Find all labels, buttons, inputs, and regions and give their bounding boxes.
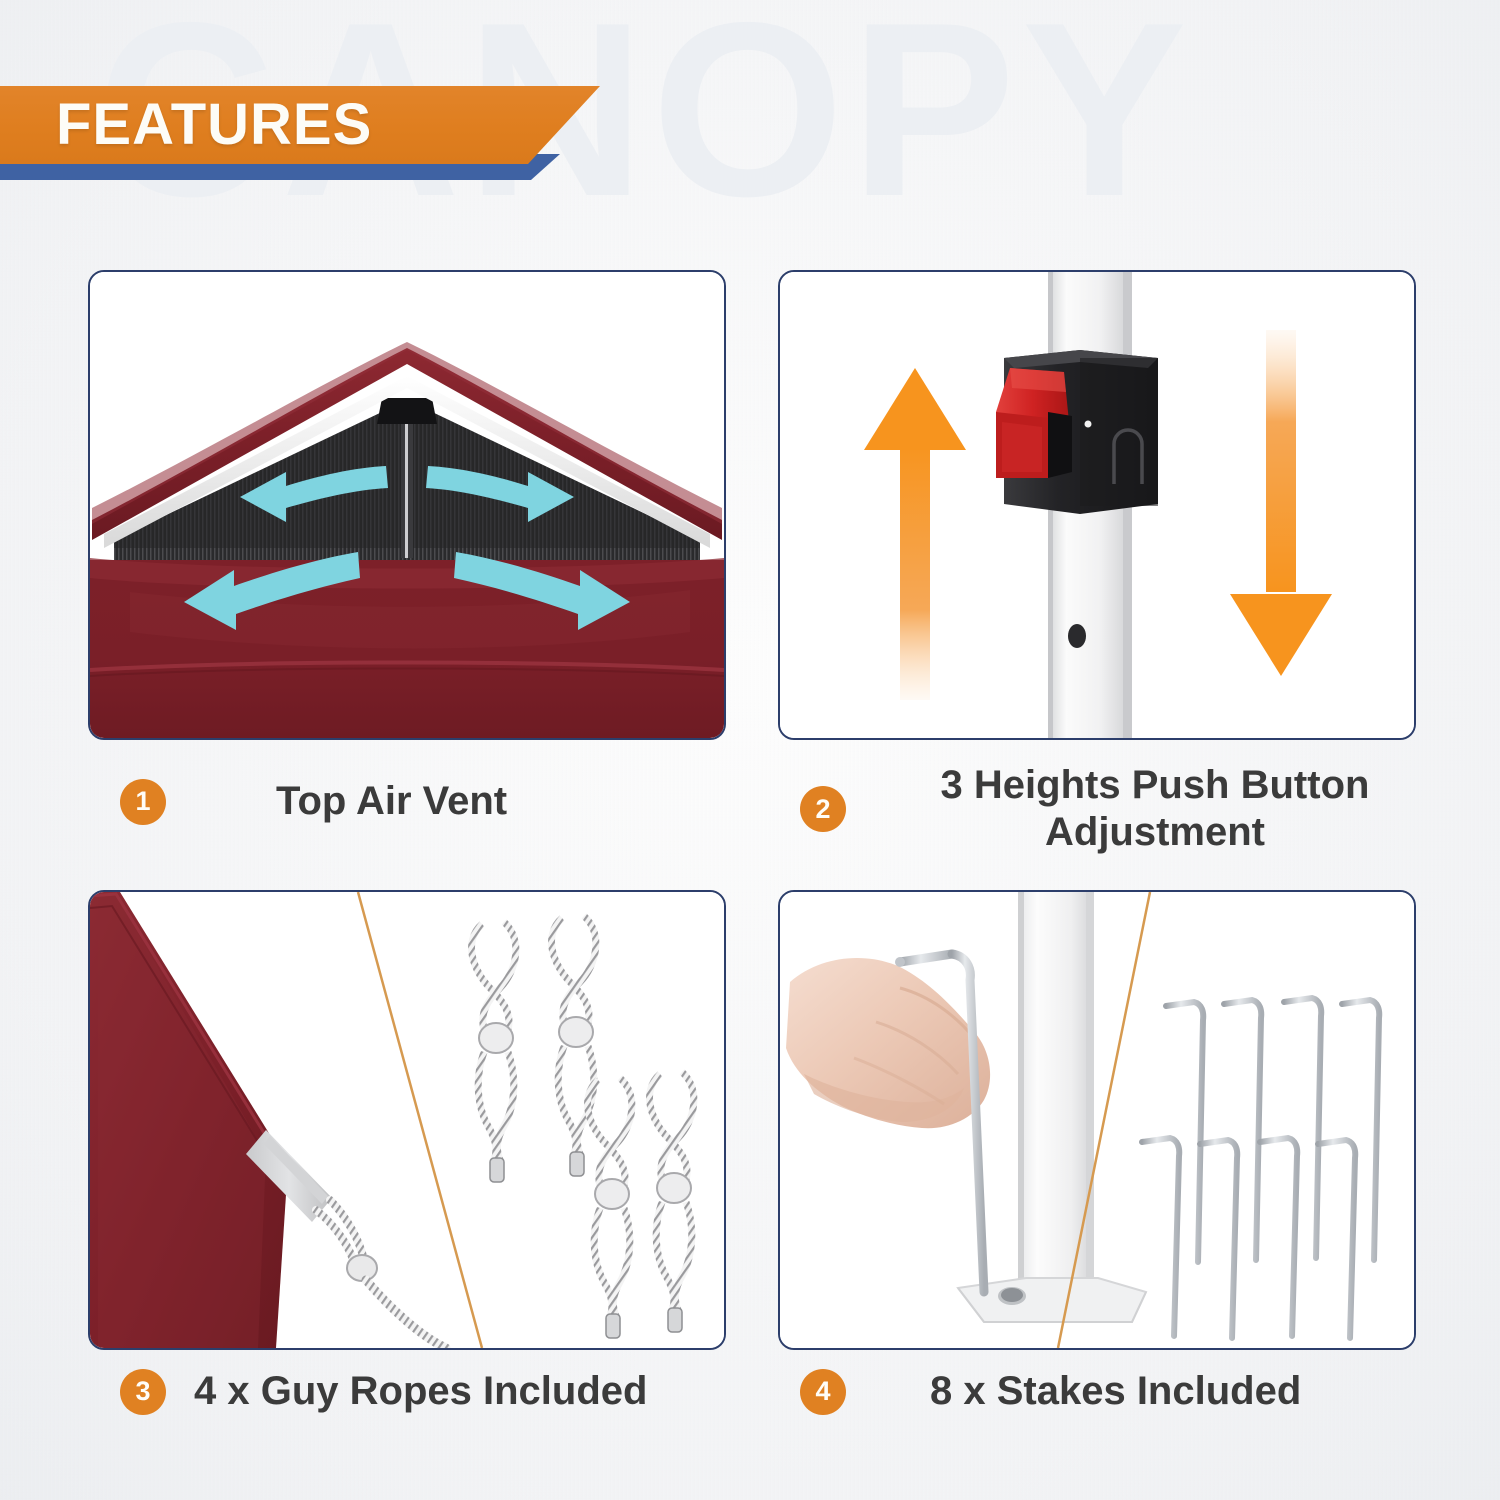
feature-label-2: 3 Heights Push Button Adjustment <box>894 762 1416 856</box>
ground-stakes-illustration <box>780 892 1414 1348</box>
feature-panel-3-guy-ropes <box>88 890 726 1350</box>
feature-badge-3: 3 <box>120 1369 166 1415</box>
rope-knot <box>347 1255 377 1281</box>
feature-panel-1-top-air-vent <box>88 270 726 740</box>
feature-caption-3: 3 4 x Guy Ropes Included <box>120 1368 726 1415</box>
feature-label-1: Top Air Vent <box>276 778 507 825</box>
feature-badge-1: 1 <box>120 779 166 825</box>
feature-label-3: 4 x Guy Ropes Included <box>194 1368 647 1415</box>
feature-label-4: 8 x Stakes Included <box>930 1368 1301 1415</box>
feature-label-2-line-2: Adjustment <box>894 809 1416 856</box>
feature-label-2-line-1: 3 Heights Push Button <box>894 762 1416 809</box>
feature-panel-2-push-button <box>778 270 1416 740</box>
guy-ropes-illustration <box>90 892 724 1348</box>
feature-panel-grid <box>0 0 1500 1500</box>
feature-badge-4: 4 <box>800 1369 846 1415</box>
canopy-top-air-vent-illustration <box>90 272 724 738</box>
feature-caption-1: 1 Top Air Vent <box>120 778 726 825</box>
feature-caption-2: 2 3 Heights Push Button Adjustment <box>800 762 1416 856</box>
feature-panel-4-stakes <box>778 890 1416 1350</box>
feature-caption-4: 4 8 x Stakes Included <box>800 1368 1416 1415</box>
push-button-height-adjuster-illustration <box>780 272 1414 738</box>
feature-badge-2: 2 <box>800 786 846 832</box>
